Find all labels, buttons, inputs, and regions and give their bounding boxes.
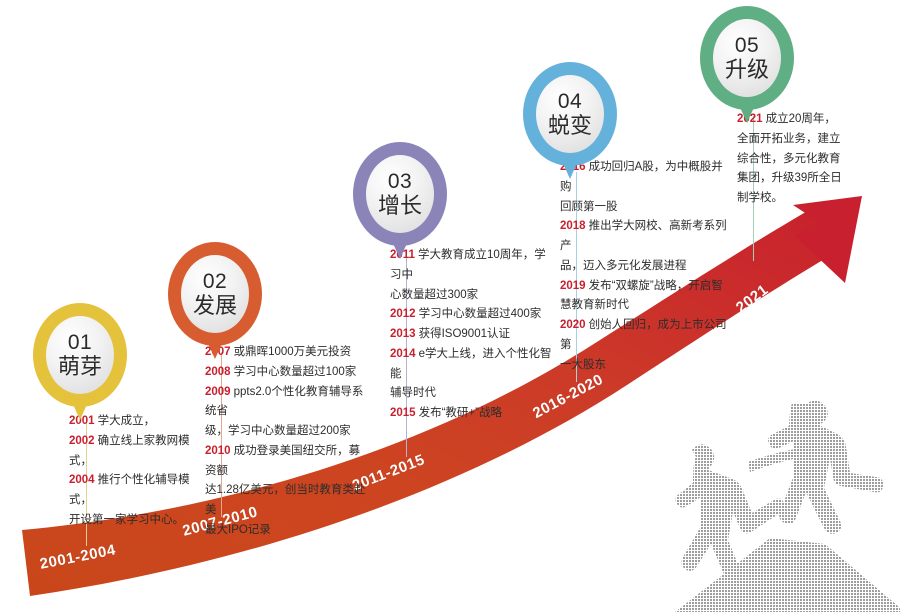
infographic-canvas: 2001-20042007-20102011-20152016-20202021… [0,0,900,612]
pin-bubble-05: 05升级 [700,6,794,110]
detail-year: 2008 [205,366,231,378]
detail-line: 全面开拓业务，建立 [737,130,860,150]
pin-inner-04: 04蜕变 [536,75,604,153]
detail-text: 辅导时代 [390,387,436,399]
detail-line: 2004推行个性化辅导模式， [69,471,208,511]
detail-line: 2015发布“教研+”战略 [390,404,556,424]
pin-word-02: 发展 [193,294,237,317]
detail-line: 2019发布“双螺旋”战略，开启智 [560,277,731,297]
detail-text: 回顾第一股 [560,201,618,213]
pin-tail-05 [739,105,755,123]
detail-line: 2018推出学大网校、高新考系列产 [560,217,731,257]
detail-line: 回顾第一股 [560,198,731,218]
detail-line: 2008学习中心数量超过100家 [205,363,371,383]
detail-text: 达1.28亿美元，创当时教育类赴美 [205,484,365,516]
pin-bubble-01: 01萌芽 [33,303,127,407]
detail-line: 2013获得ISO9001认证 [390,325,556,345]
pin-inner-01: 01萌芽 [46,316,114,394]
detail-text: 全面开拓业务，建立 [737,133,841,145]
detail-line: 2001学大成立， [69,412,208,432]
detail-line: 2020创始人回归，成为上市公司第 [560,316,731,356]
pin-tail-02 [207,341,223,359]
pin-number-01: 01 [68,332,92,354]
pin-number-05: 05 [735,35,759,57]
detail-line: 最大IPO记录 [205,521,371,541]
pin-number-04: 04 [558,91,582,113]
pin-number-03: 03 [388,171,412,193]
detail-text: 级，学习中心数量超过200家 [205,425,351,437]
milestone-pin-05[interactable]: 05升级 [700,6,794,110]
pin-tail-03 [392,241,408,259]
detail-text: 开设第一家学习中心。 [69,514,184,526]
detail-line: 2010成功登录美国纽交所，募资额 [205,442,371,482]
pin-word-05: 升级 [725,58,769,81]
pin-bubble-03: 03增长 [353,142,447,246]
detail-year: 2015 [390,407,416,419]
detail-line: 2011学大教育成立10周年，学习中 [390,246,556,286]
detail-text: 心数量超过300家 [390,289,478,301]
detail-line: 2014e学大上线，进入个性化智能 [390,345,556,385]
detail-text: 或鼎晖1000万美元投资 [234,346,352,358]
pin-bubble-04: 04蜕变 [523,62,617,166]
details-block-03: 2011学大教育成立10周年，学习中心数量超过300家2012学习中心数量超过4… [381,246,556,424]
detail-line: 心数量超过300家 [390,286,556,306]
detail-line: 综合性，多元化教育 [737,150,860,170]
detail-line: 制学校。 [737,189,860,209]
pin-number-02: 02 [203,271,227,293]
detail-year: 2004 [69,474,95,486]
detail-line: 集团，升级39所全日 [737,169,860,189]
detail-text: 学习中心数量超过100家 [234,366,357,378]
detail-text: 学习中心数量超过400家 [419,308,542,320]
detail-line: 品，迈入多元化发展进程 [560,257,731,277]
pin-word-03: 增长 [378,194,422,217]
detail-text: 发布“双螺旋”战略，开启智 [589,280,723,292]
pin-tail-01 [72,402,88,420]
detail-line: 一大股东 [560,356,731,376]
detail-year: 2002 [69,435,95,447]
milestone-pin-01[interactable]: 01萌芽 [33,303,127,407]
details-block-05: 2021成立20周年，全面开拓业务，建立综合性，多元化教育集团，升级39所全日制… [728,110,860,209]
detail-text: 集团，升级39所全日 [737,172,842,184]
detail-text: 学大成立， [98,415,156,427]
detail-year: 2010 [205,445,231,457]
pin-word-01: 萌芽 [58,355,102,378]
milestone-pin-03[interactable]: 03增长 [353,142,447,246]
detail-year: 2019 [560,280,586,292]
detail-line: 2012学习中心数量超过400家 [390,305,556,325]
detail-text: 最大IPO记录 [205,524,271,536]
pin-bubble-02: 02发展 [168,242,262,346]
details-block-01: 2001学大成立，2002确立线上家教网模式，2004推行个性化辅导模式，开设第… [60,412,208,531]
detail-year: 2018 [560,220,586,232]
detail-line: 2021成立20周年， [737,110,860,130]
detail-line: 慧教育新时代 [560,296,731,316]
detail-line: 2002确立线上家教网模式， [69,432,208,472]
detail-line: 辅导时代 [390,384,556,404]
detail-text: 一大股东 [560,359,606,371]
detail-year: 2009 [205,386,231,398]
pin-inner-05: 05升级 [713,19,781,97]
pin-word-04: 蜕变 [548,114,592,137]
detail-year: 2013 [390,328,416,340]
detail-line: 2009ppts2.0个性化教育辅导系统省 [205,383,371,423]
detail-year: 2014 [390,348,416,360]
details-block-04: 2016成功回归A股，为中概股并购回顾第一股2018推出学大网校、高新考系列产品… [551,158,731,375]
detail-text: 品，迈入多元化发展进程 [560,260,687,272]
milestone-pin-02[interactable]: 02发展 [168,242,262,346]
detail-text: 发布“教研+”战略 [419,407,502,419]
pin-inner-02: 02发展 [181,255,249,333]
detail-line: 开设第一家学习中心。 [69,511,208,531]
detail-text: 获得ISO9001认证 [419,328,510,340]
detail-text: 制学校。 [737,192,783,204]
milestone-pin-04[interactable]: 04蜕变 [523,62,617,166]
pin-tail-04 [562,161,578,179]
detail-text: 成立20周年， [766,113,836,125]
details-block-02: 2007或鼎晖1000万美元投资2008学习中心数量超过100家2009ppts… [196,343,371,541]
detail-year: 2012 [390,308,416,320]
pin-inner-03: 03增长 [366,155,434,233]
detail-line: 达1.28亿美元，创当时教育类赴美 [205,481,371,521]
halftone-climbers-silhouette [620,398,900,612]
detail-text: 综合性，多元化教育 [737,153,841,165]
detail-line: 级，学习中心数量超过200家 [205,422,371,442]
detail-text: 慧教育新时代 [560,299,629,311]
detail-year: 2020 [560,319,586,331]
